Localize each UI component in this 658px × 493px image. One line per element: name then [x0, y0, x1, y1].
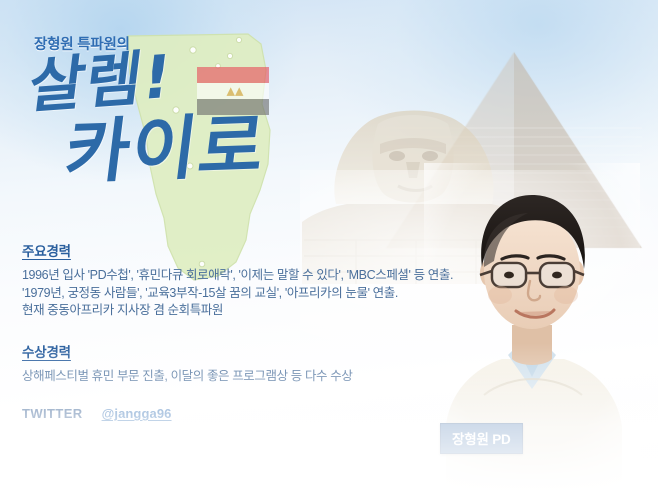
title-line-cairo: 카이로: [61, 111, 270, 188]
eagle-of-saladin-icon: ▲▲: [227, 86, 240, 97]
twitter-label: TWITTER: [22, 406, 83, 421]
twitter-row: TWITTER @jangga96: [22, 406, 492, 421]
career-heading: 주요경력: [22, 240, 492, 260]
pyramid-shadow-side: [514, 52, 642, 248]
correspondent-profile-banner: ▲▲ 장형원 특파원의 살렘! 카이로: [0, 0, 658, 493]
egypt-flag-icon: ▲▲: [197, 67, 269, 115]
section-spacer: [22, 320, 492, 341]
career-line-1: 1996년 입사 'PD수첩', '휴민다큐 회로애락', '이제는 말할 수 …: [22, 267, 492, 285]
awards-line-1: 상해페스티벌 휴민 부문 진출, 이달의 좋은 프로그램상 등 다수 수상: [22, 368, 492, 386]
awards-heading: 수상경력: [22, 341, 492, 361]
twitter-handle-link[interactable]: @jangga96: [102, 406, 172, 421]
profile-info-block: 주요경력 1996년 입사 'PD수첩', '휴민다큐 회로애락', '이제는 …: [22, 240, 492, 421]
flag-band-black: [197, 99, 269, 115]
page-title: 살렘! 카이로: [18, 52, 318, 202]
career-line-2: '1979년, 궁정동 사람들', '교육3부작-15살 꿈의 교실', '아프…: [22, 285, 492, 303]
flag-band-red: [197, 67, 269, 83]
career-line-3: 현재 중동아프리카 지사장 겸 순회특파원: [22, 302, 492, 320]
title-line-salem: 살렘!: [25, 47, 175, 117]
status-badge: 장형원 PD: [440, 423, 523, 454]
banner-kicker: 장형원 특파원의: [34, 33, 130, 54]
